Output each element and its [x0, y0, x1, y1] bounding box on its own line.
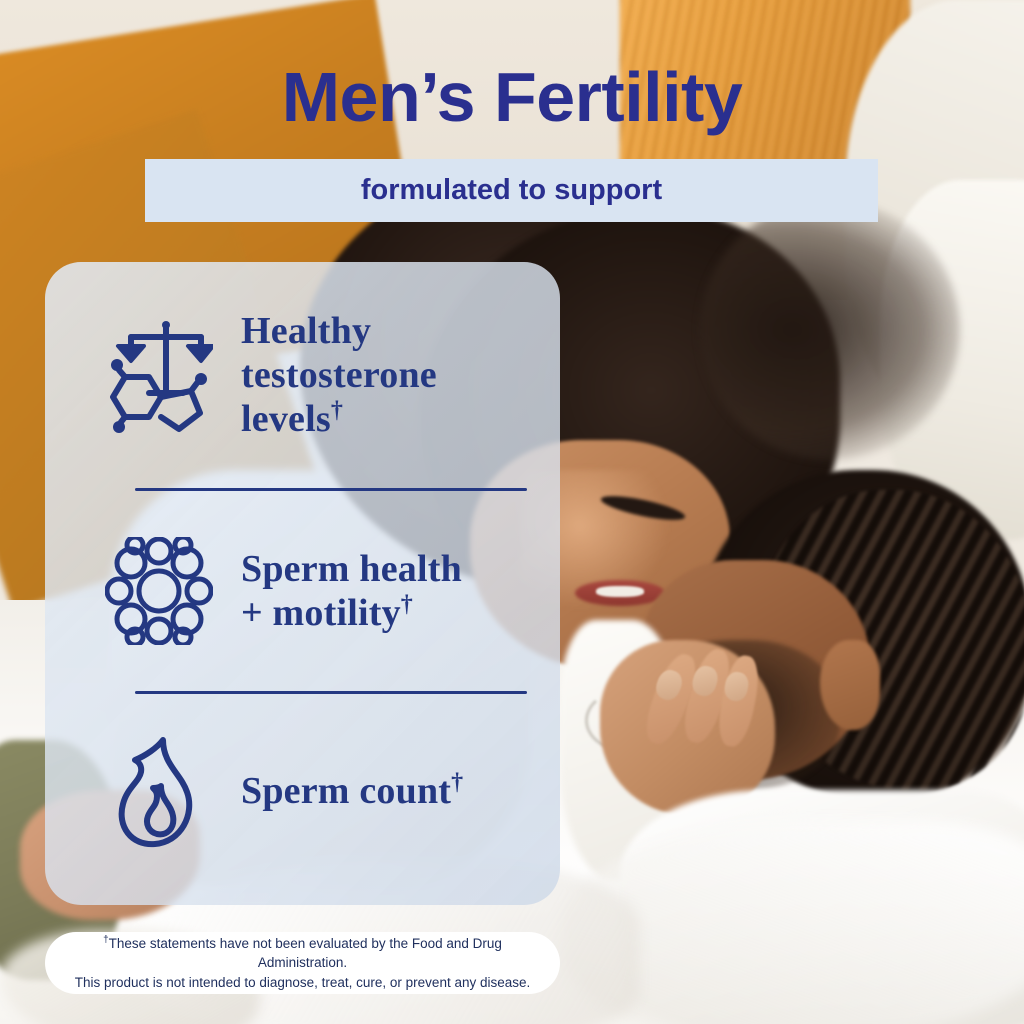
balance-scale-molecule-icon — [103, 315, 215, 435]
feature-line-2: + motility — [241, 592, 401, 634]
feature-line-2: testosterone — [241, 354, 437, 396]
feature-line-3: levels — [241, 398, 331, 440]
subtitle-text: formulated to support — [361, 174, 662, 207]
feature-row-sperm-health: Sperm health + motility† — [75, 491, 530, 691]
disclaimer-text-1: These statements have not been evaluated… — [109, 936, 502, 970]
feature-label-sperm-health: Sperm health + motility† — [241, 547, 462, 635]
marketing-image: Men’s Fertility formulated to support — [0, 0, 1024, 1024]
feature-label-testosterone: Healthy testosterone levels† — [241, 309, 437, 441]
feature-card: Healthy testosterone levels† — [45, 262, 560, 905]
disclaimer-line-1: †These statements have not been evaluate… — [63, 934, 542, 972]
cell-cluster-icon — [103, 537, 215, 645]
feature-line-1: Sperm health — [241, 548, 462, 590]
dagger-mark: † — [451, 770, 463, 796]
dagger-mark: † — [401, 591, 413, 617]
disclaimer-line-2: This product is not intended to diagnose… — [75, 973, 531, 992]
feature-line-1: Healthy — [241, 310, 371, 352]
woman-hair-frizz — [700, 200, 960, 460]
feature-line-1: Sperm count — [241, 770, 451, 812]
feature-row-testosterone: Healthy testosterone levels† — [75, 262, 530, 488]
page-title: Men’s Fertility — [0, 62, 1024, 132]
disclaimer-footnote: †These statements have not been evaluate… — [45, 932, 560, 994]
flame-icon — [103, 734, 215, 850]
subtitle-band: formulated to support — [145, 159, 878, 222]
feature-row-sperm-count: Sperm count† — [75, 694, 530, 889]
man-ear — [820, 640, 880, 730]
dagger-mark: † — [331, 397, 343, 423]
woman-teeth — [596, 586, 644, 597]
feature-label-sperm-count: Sperm count† — [241, 769, 463, 813]
